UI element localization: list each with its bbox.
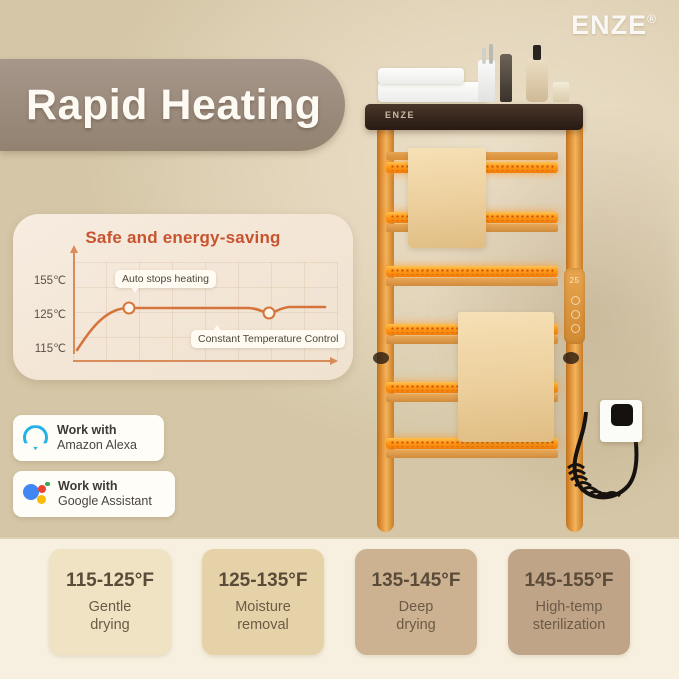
- shelf-bar-6: [386, 450, 558, 458]
- google-dot-yellow: [37, 495, 46, 504]
- badge-google-text: Work with Google Assistant: [58, 479, 152, 509]
- shelf-brand-logo: ENZE: [385, 110, 415, 120]
- temp-range-3: 135-145°F: [372, 570, 461, 592]
- chart-marker-constant-temp: [263, 307, 276, 320]
- google-dot-green: [45, 482, 50, 487]
- badge-alexa-line1: Work with: [57, 423, 137, 438]
- rail-bracket-left: [373, 352, 389, 364]
- temperature-readout: 25: [564, 276, 585, 285]
- rail-bracket-right: [563, 352, 579, 364]
- temp-range-4: 145-155°F: [525, 570, 614, 592]
- folded-white-towel-small: [378, 68, 464, 84]
- heating-bar-3: [386, 266, 558, 277]
- annotation-auto-stops-heating: Auto stops heating: [115, 270, 216, 288]
- badge-amazon-alexa[interactable]: Work with Amazon Alexa: [13, 415, 164, 461]
- shelf-bar-3: [386, 278, 558, 286]
- temperature-card-gentle-drying[interactable]: 115-125°F Gentle drying: [49, 549, 171, 655]
- brand-name: ENZE: [571, 10, 647, 41]
- y-tick-155: 155℃: [34, 273, 66, 287]
- toothbrush-cup: [478, 60, 495, 102]
- chart-title: Safe and energy-saving: [13, 214, 353, 248]
- temp-range-1: 115-125°F: [66, 570, 154, 592]
- headline-banner: Rapid Heating: [0, 59, 345, 151]
- chart-x-axis: [73, 360, 331, 362]
- hanging-towel-lower: [458, 312, 554, 442]
- soap-dispenser-bottle: [526, 58, 548, 102]
- control-panel[interactable]: 25: [564, 268, 585, 344]
- badge-alexa-line2: Amazon Alexa: [57, 438, 137, 453]
- alexa-ring-icon: [23, 425, 48, 450]
- dark-dispenser-bottle: [500, 54, 512, 102]
- badge-alexa-text: Work with Amazon Alexa: [57, 423, 137, 453]
- temp-desc-3: Deep drying: [396, 599, 436, 633]
- temperature-card-deep-drying[interactable]: 135-145°F Deep drying: [355, 549, 477, 655]
- chart-marker-auto-stop: [123, 302, 136, 315]
- hanging-towel-upper: [408, 148, 486, 248]
- temp-range-2: 125-135°F: [219, 570, 308, 592]
- temp-desc-2: Moisture removal: [235, 599, 291, 633]
- folded-white-towel-large: [378, 82, 488, 102]
- infographic-page: ENZE 25 ENZE ® Rapid Heating: [0, 0, 679, 679]
- soap-dispenser-pump: [533, 45, 541, 60]
- toothbrush-1: [482, 48, 486, 64]
- google-dot-red: [38, 485, 46, 493]
- power-plug: [611, 404, 633, 426]
- google-assistant-icon: [23, 482, 49, 506]
- temp-desc-4: High-temp sterilization: [533, 599, 606, 633]
- annotation-constant-temperature: Constant Temperature Control: [191, 330, 345, 348]
- power-button[interactable]: [571, 296, 580, 305]
- chart-plot-area: 155℃ 125℃ 115℃ Auto stops heating Consta…: [73, 262, 338, 362]
- brand-logo: ENZE ®: [571, 10, 657, 41]
- badge-google-line1: Work with: [58, 479, 152, 494]
- mode-button[interactable]: [571, 310, 580, 319]
- temp-desc-1: Gentle drying: [89, 599, 132, 633]
- toothbrush-2: [489, 44, 493, 64]
- badge-google-assistant[interactable]: Work with Google Assistant: [13, 471, 175, 517]
- product-left-rail: [377, 114, 394, 532]
- product-top-shelf: ENZE: [365, 104, 583, 130]
- y-tick-115: 115℃: [35, 341, 66, 355]
- towel-warmer-product-image: ENZE 25: [360, 52, 620, 532]
- temperature-card-list: 115-125°F Gentle drying 125-135°F Moistu…: [0, 549, 679, 667]
- badge-google-line2: Google Assistant: [58, 494, 152, 509]
- temperature-card-moisture-removal[interactable]: 125-135°F Moisture removal: [202, 549, 324, 655]
- y-tick-125: 125℃: [34, 307, 66, 321]
- energy-saving-chart-card: Safe and energy-saving 155℃ 125℃ 115℃ Au…: [13, 214, 353, 380]
- page-title: Rapid Heating: [0, 81, 322, 130]
- registered-mark: ®: [647, 13, 657, 25]
- soap-bar-box: [553, 82, 569, 102]
- temperature-card-high-temp-sterilization[interactable]: 145-155°F High-temp sterilization: [508, 549, 630, 655]
- timer-button[interactable]: [571, 324, 580, 333]
